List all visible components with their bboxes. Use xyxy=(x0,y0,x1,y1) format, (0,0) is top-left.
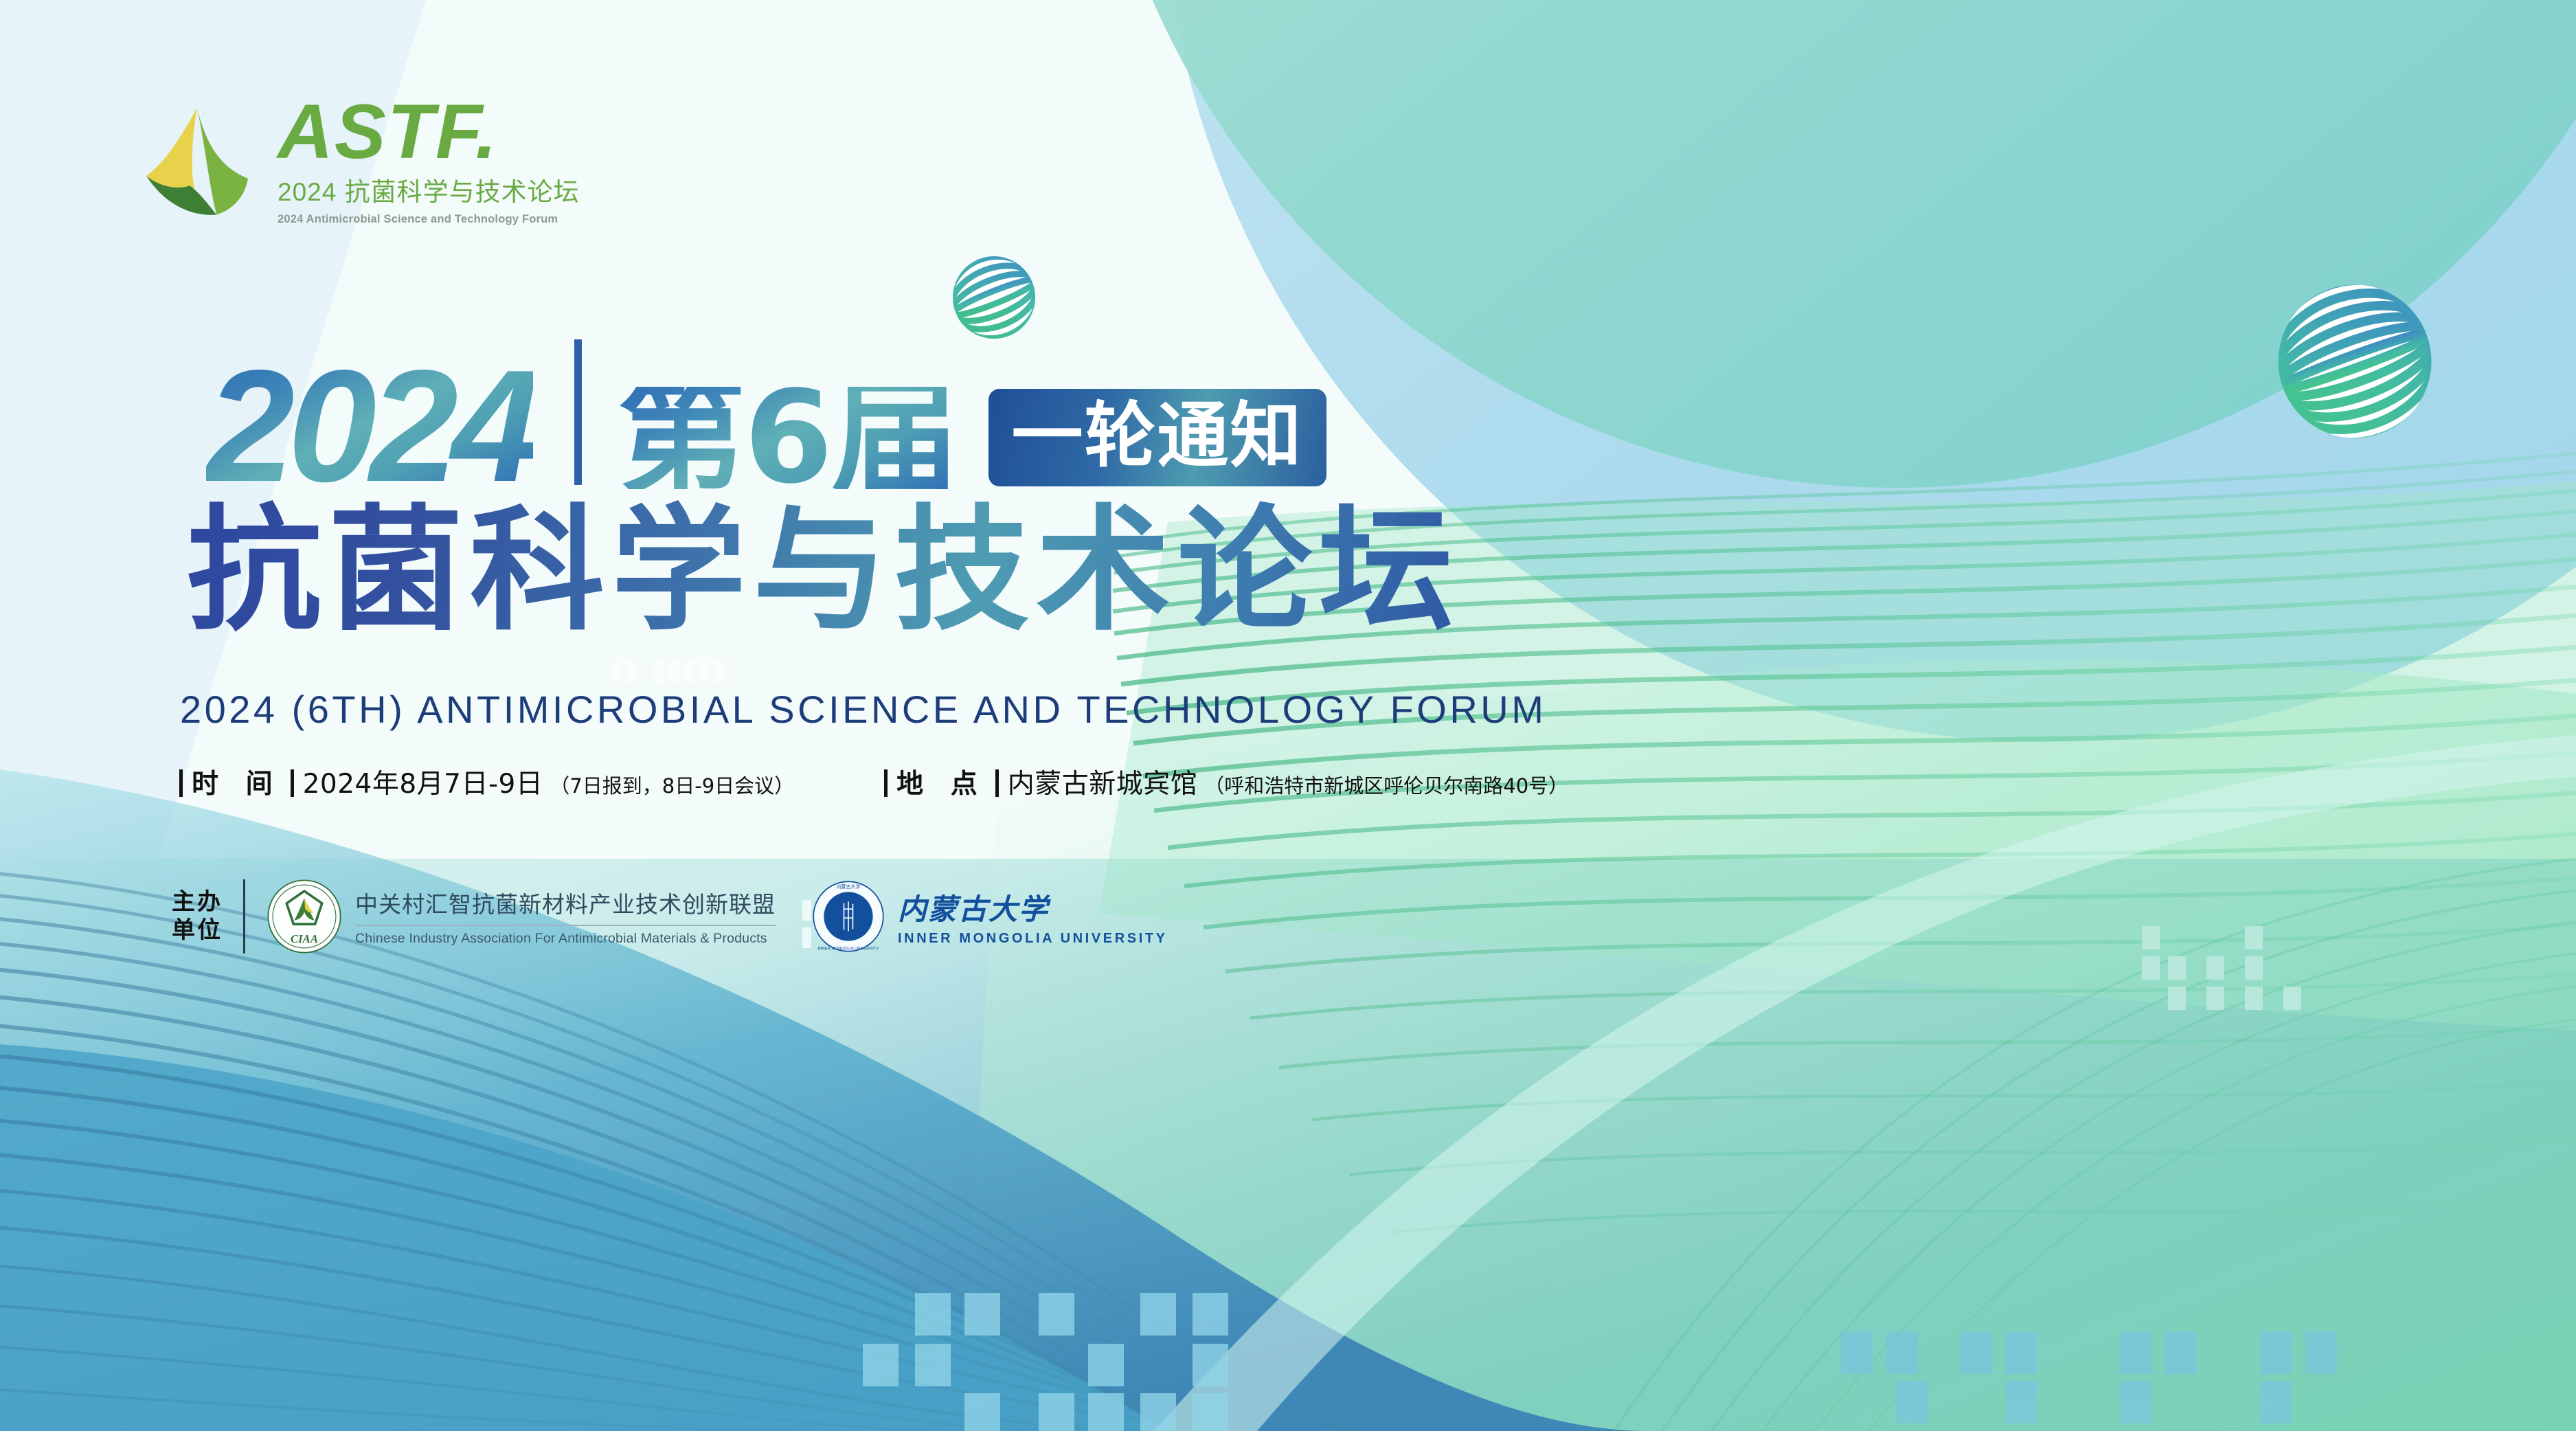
organizer-ciaa: CIAA 中关村汇智抗菌新材料产业技术创新联盟 Chinese Industry… xyxy=(266,878,776,955)
page-title: 抗菌科学与技术论坛 xyxy=(187,500,1460,643)
svg-text:INNER MONGOLIA UNIVERSITY: INNER MONGOLIA UNIVERSITY xyxy=(817,947,879,951)
ciaa-name-en: Chinese Industry Association For Antimic… xyxy=(355,931,776,947)
ciaa-name-cn: 中关村汇智抗菌新材料产业技术创新联盟 xyxy=(355,886,776,919)
place-bar-left xyxy=(884,769,888,797)
time-bar-right xyxy=(291,769,294,797)
astf-acronym: ASTF. xyxy=(278,96,580,167)
imu-name-cn: 内蒙古大学 xyxy=(898,886,1168,928)
astf-logo: ASTF. 2024 抗菌科学与技术论坛 2024 Antimicrobial … xyxy=(135,96,580,226)
time-note: （7日报到，8日-9日会议） xyxy=(550,770,794,799)
conference-banner: ASTF. 2024 抗菌科学与技术论坛 2024 Antimicrobial … xyxy=(0,0,2576,1431)
svg-text:CIAA: CIAA xyxy=(291,932,318,945)
time-value: 2024年8月7日-9日 xyxy=(303,763,543,801)
astf-trefoil-icon xyxy=(135,101,260,222)
organizers-section: 主办 单位 CIAA 中关村汇智抗菌新材料产业技术创新联盟 Chinese In… xyxy=(172,878,1168,955)
headline-row: 2024 第6届 一轮通知 xyxy=(206,317,1326,489)
astf-logo-cn: 2024 抗菌科学与技术论坛 xyxy=(278,171,580,208)
svg-text:内蒙古大学: 内蒙古大学 xyxy=(836,883,860,890)
event-time: 时 间 2024年8月7日-9日 （7日报到，8日-9日会议） xyxy=(170,763,794,801)
headline-divider xyxy=(574,339,582,485)
event-meta: 时 间 2024年8月7日-9日 （7日报到，8日-9日会议） 地 点 内蒙古新… xyxy=(170,763,1568,801)
event-place: 地 点 内蒙古新城宾馆 （呼和浩特市新城区呼伦贝尔南路40号） xyxy=(875,763,1568,801)
time-label: 时 间 xyxy=(192,763,282,801)
place-note: （呼和浩特市新城区呼伦贝尔南路40号） xyxy=(1204,770,1568,799)
inner-mongolia-university-seal-icon: 内蒙古大学 INNER MONGOLIA UNIVERSITY xyxy=(811,879,885,954)
page-subtitle-en: 2024 (6TH) ANTIMICROBIAL SCIENCE AND TEC… xyxy=(180,687,1546,732)
astf-logo-en: 2024 Antimicrobial Science and Technolog… xyxy=(278,213,580,226)
organizer-imu: 内蒙古大学 INNER MONGOLIA UNIVERSITY 内蒙古大学 IN… xyxy=(811,879,1168,954)
time-bar-left xyxy=(179,769,183,797)
ciaa-text: 中关村汇智抗菌新材料产业技术创新联盟 Chinese Industry Asso… xyxy=(355,886,776,947)
place-value: 内蒙古新城宾馆 xyxy=(1008,763,1198,801)
place-label: 地 点 xyxy=(896,763,986,801)
headline-edition: 第6届 xyxy=(618,387,958,489)
notice-badge-label: 一轮通知 xyxy=(1012,400,1303,471)
headline-year: 2024 xyxy=(206,365,533,489)
imu-name-en: INNER MONGOLIA UNIVERSITY xyxy=(898,931,1168,947)
organizers-label: 主办 单位 xyxy=(172,888,223,945)
imu-text: 内蒙古大学 INNER MONGOLIA UNIVERSITY xyxy=(898,886,1168,947)
organizers-label-line1: 主办 xyxy=(172,888,223,916)
notice-badge: 一轮通知 xyxy=(988,389,1326,486)
organizers-divider xyxy=(243,879,245,954)
ciaa-seal-icon: CIAA xyxy=(266,878,343,955)
ciaa-rule xyxy=(355,925,776,926)
striped-globe-icon-large xyxy=(2261,268,2448,455)
organizers-label-line2: 单位 xyxy=(172,916,223,945)
place-bar-right xyxy=(995,769,999,797)
